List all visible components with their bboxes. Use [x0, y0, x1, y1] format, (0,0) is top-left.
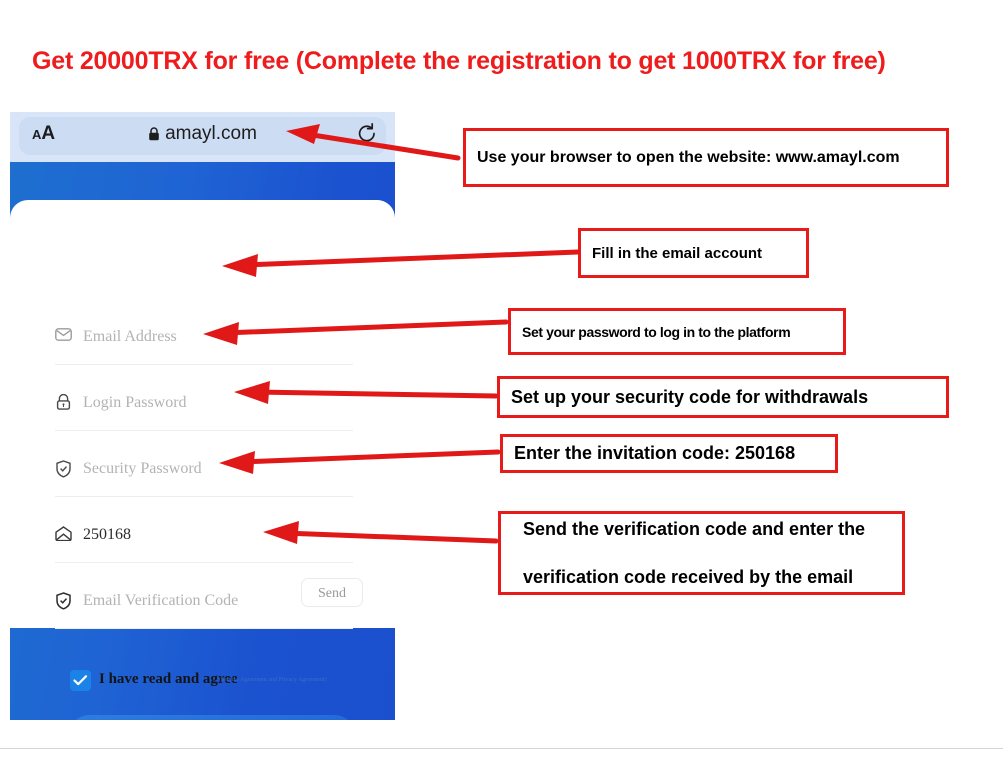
callout-set-password: Set your password to log in to the platf… — [508, 308, 846, 355]
agreement-label: I have read and agree — [99, 671, 238, 688]
callout-text: Set your password to log in to the platf… — [511, 324, 801, 340]
page-title: Get 20000TRX for free (Complete the regi… — [32, 47, 962, 76]
field-security-password[interactable]: Security Password — [55, 432, 353, 497]
callout-text: Enter the invitation code: 250168 — [503, 443, 806, 464]
reload-icon[interactable] — [357, 123, 377, 149]
lock-icon — [55, 394, 72, 415]
agreement-link[interactable]: (Service Agreement and Privacy Agreement… — [219, 677, 327, 683]
phone-screenshot: Email Address Login Password Security Pa… — [10, 112, 395, 720]
agreement-checkbox[interactable] — [70, 670, 91, 691]
field-login-password[interactable]: Login Password — [55, 366, 353, 431]
field-invitation-code[interactable]: 250168 — [55, 498, 353, 563]
send-code-button[interactable]: Send — [301, 578, 363, 607]
bottom-divider — [0, 748, 1003, 749]
field-email-address[interactable]: Email Address — [55, 300, 353, 365]
callout-verification-code: Send the verification code and enter the… — [498, 511, 905, 595]
callout-text: Send the verification code and enter the… — [501, 517, 887, 590]
callout-line-2: verification code received by the email — [512, 565, 876, 589]
callout-invitation-code: Enter the invitation code: 250168 — [500, 434, 838, 473]
callout-text: Set up your security code for withdrawal… — [500, 387, 879, 408]
field-label: Security Password — [83, 460, 202, 478]
callout-fill-email: Fill in the email account — [578, 228, 809, 278]
field-label: Login Password — [83, 394, 187, 412]
agreement-row[interactable]: I have read and agree (Service Agreement… — [70, 670, 370, 694]
url-text: amayl.com — [165, 123, 257, 144]
browser-toolbar: AA amayl.com — [10, 112, 395, 162]
registration-card: Email Address Login Password Security Pa… — [10, 200, 395, 628]
open-envelope-icon — [55, 526, 72, 546]
callout-line-1: Send the verification code and enter the — [512, 517, 876, 541]
shield-check-icon — [55, 592, 72, 615]
field-email-verification-code[interactable]: Email Verification Code Send — [55, 564, 353, 629]
url-display[interactable]: amayl.com — [10, 123, 395, 147]
envelope-icon — [55, 328, 72, 346]
registration-button[interactable]: Registration — [67, 715, 357, 720]
field-label: Email Verification Code — [83, 592, 238, 610]
lock-icon — [148, 125, 160, 147]
callout-open-website: Use your browser to open the website: ww… — [463, 128, 949, 187]
field-label: Email Address — [83, 328, 177, 346]
callout-text: Fill in the email account — [581, 245, 773, 262]
callout-security-code: Set up your security code for withdrawal… — [497, 376, 949, 418]
field-value: 250168 — [83, 526, 131, 544]
shield-check-icon — [55, 460, 72, 483]
callout-text: Use your browser to open the website: ww… — [466, 149, 911, 167]
